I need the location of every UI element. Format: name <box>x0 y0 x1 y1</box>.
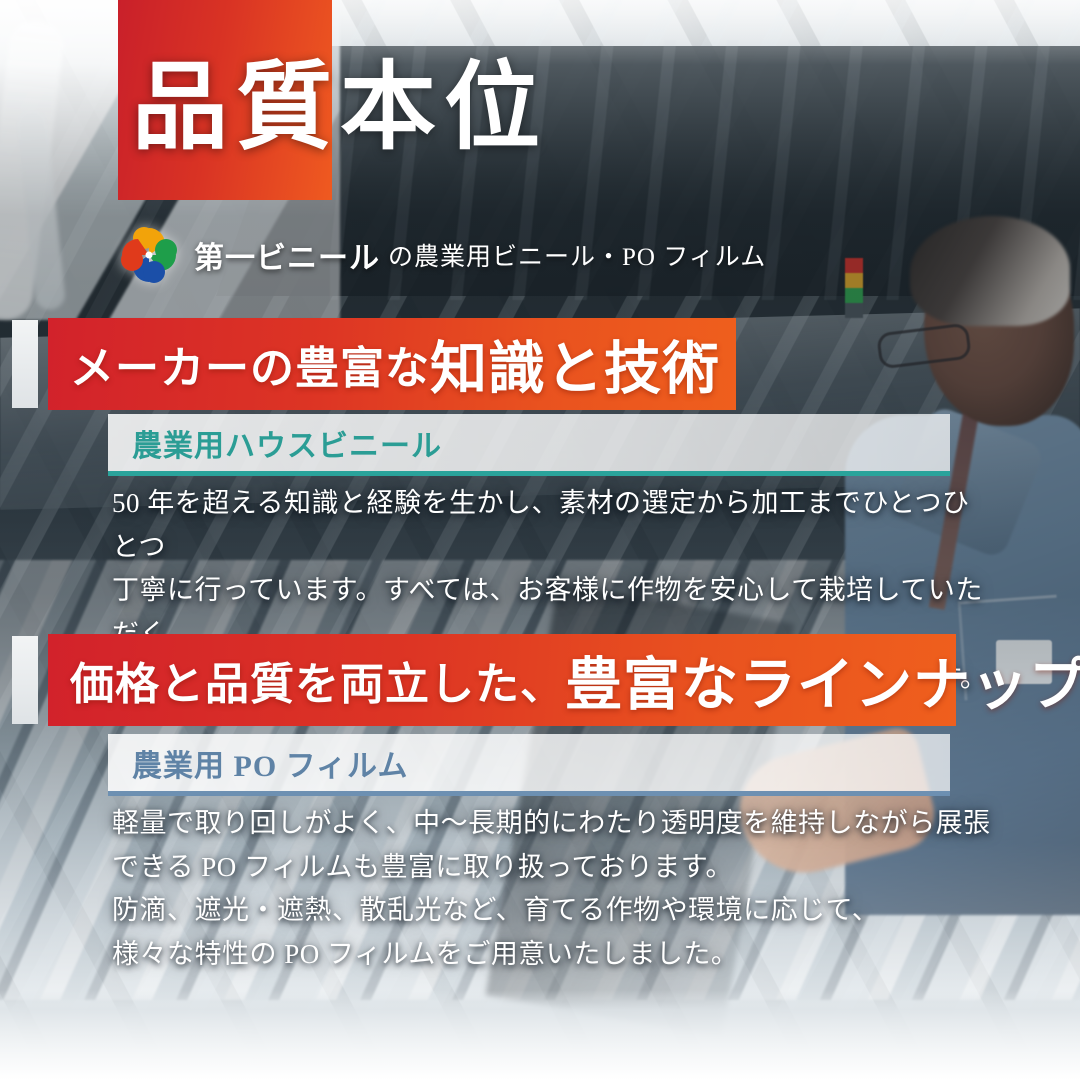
section-2-subheading: 農業用 PO フィルム <box>132 741 408 785</box>
ribbon-text-large: 豊富なラインナップ <box>565 639 1080 721</box>
section-2-body-text: 軽量で取り回しがよく、中〜長期的にわたり透明度を維持しながら展張 できる PO … <box>112 802 992 977</box>
ribbon-bar: 価格と品質を両立した、 豊富なラインナップ <box>48 634 956 726</box>
ribbon-bar: メーカーの豊富な 知識と技術 <box>48 318 736 410</box>
ribbon-tab <box>12 320 38 408</box>
section-1-subheading-band: 農業用ハウスビニール <box>108 414 950 476</box>
promo-banner: 品質本位 第一ビニール の農業用ビニール・PO フィルム <box>0 0 1080 1080</box>
ribbon-text-small: 価格と品質を両立した、 <box>70 648 565 712</box>
hero-title-area: 品質本位 <box>0 0 1080 210</box>
section-1-subheading: 農業用ハウスビニール <box>132 421 442 465</box>
section-2-subheading-band: 農業用 PO フィルム <box>108 734 950 796</box>
brand-row: 第一ビニール の農業用ビニール・PO フィルム <box>118 224 766 286</box>
brand-tagline: の農業用ビニール・PO フィルム <box>388 237 766 273</box>
brand-name: 第一ビニール <box>194 233 380 277</box>
ribbon-text-large: 知識と技術 <box>430 323 720 405</box>
ribbon-text-small: メーカーの豊富な <box>70 332 430 396</box>
page-title: 品質本位 <box>132 60 548 156</box>
pinwheel-logo-icon <box>118 225 180 285</box>
ribbon-tab <box>12 636 38 724</box>
